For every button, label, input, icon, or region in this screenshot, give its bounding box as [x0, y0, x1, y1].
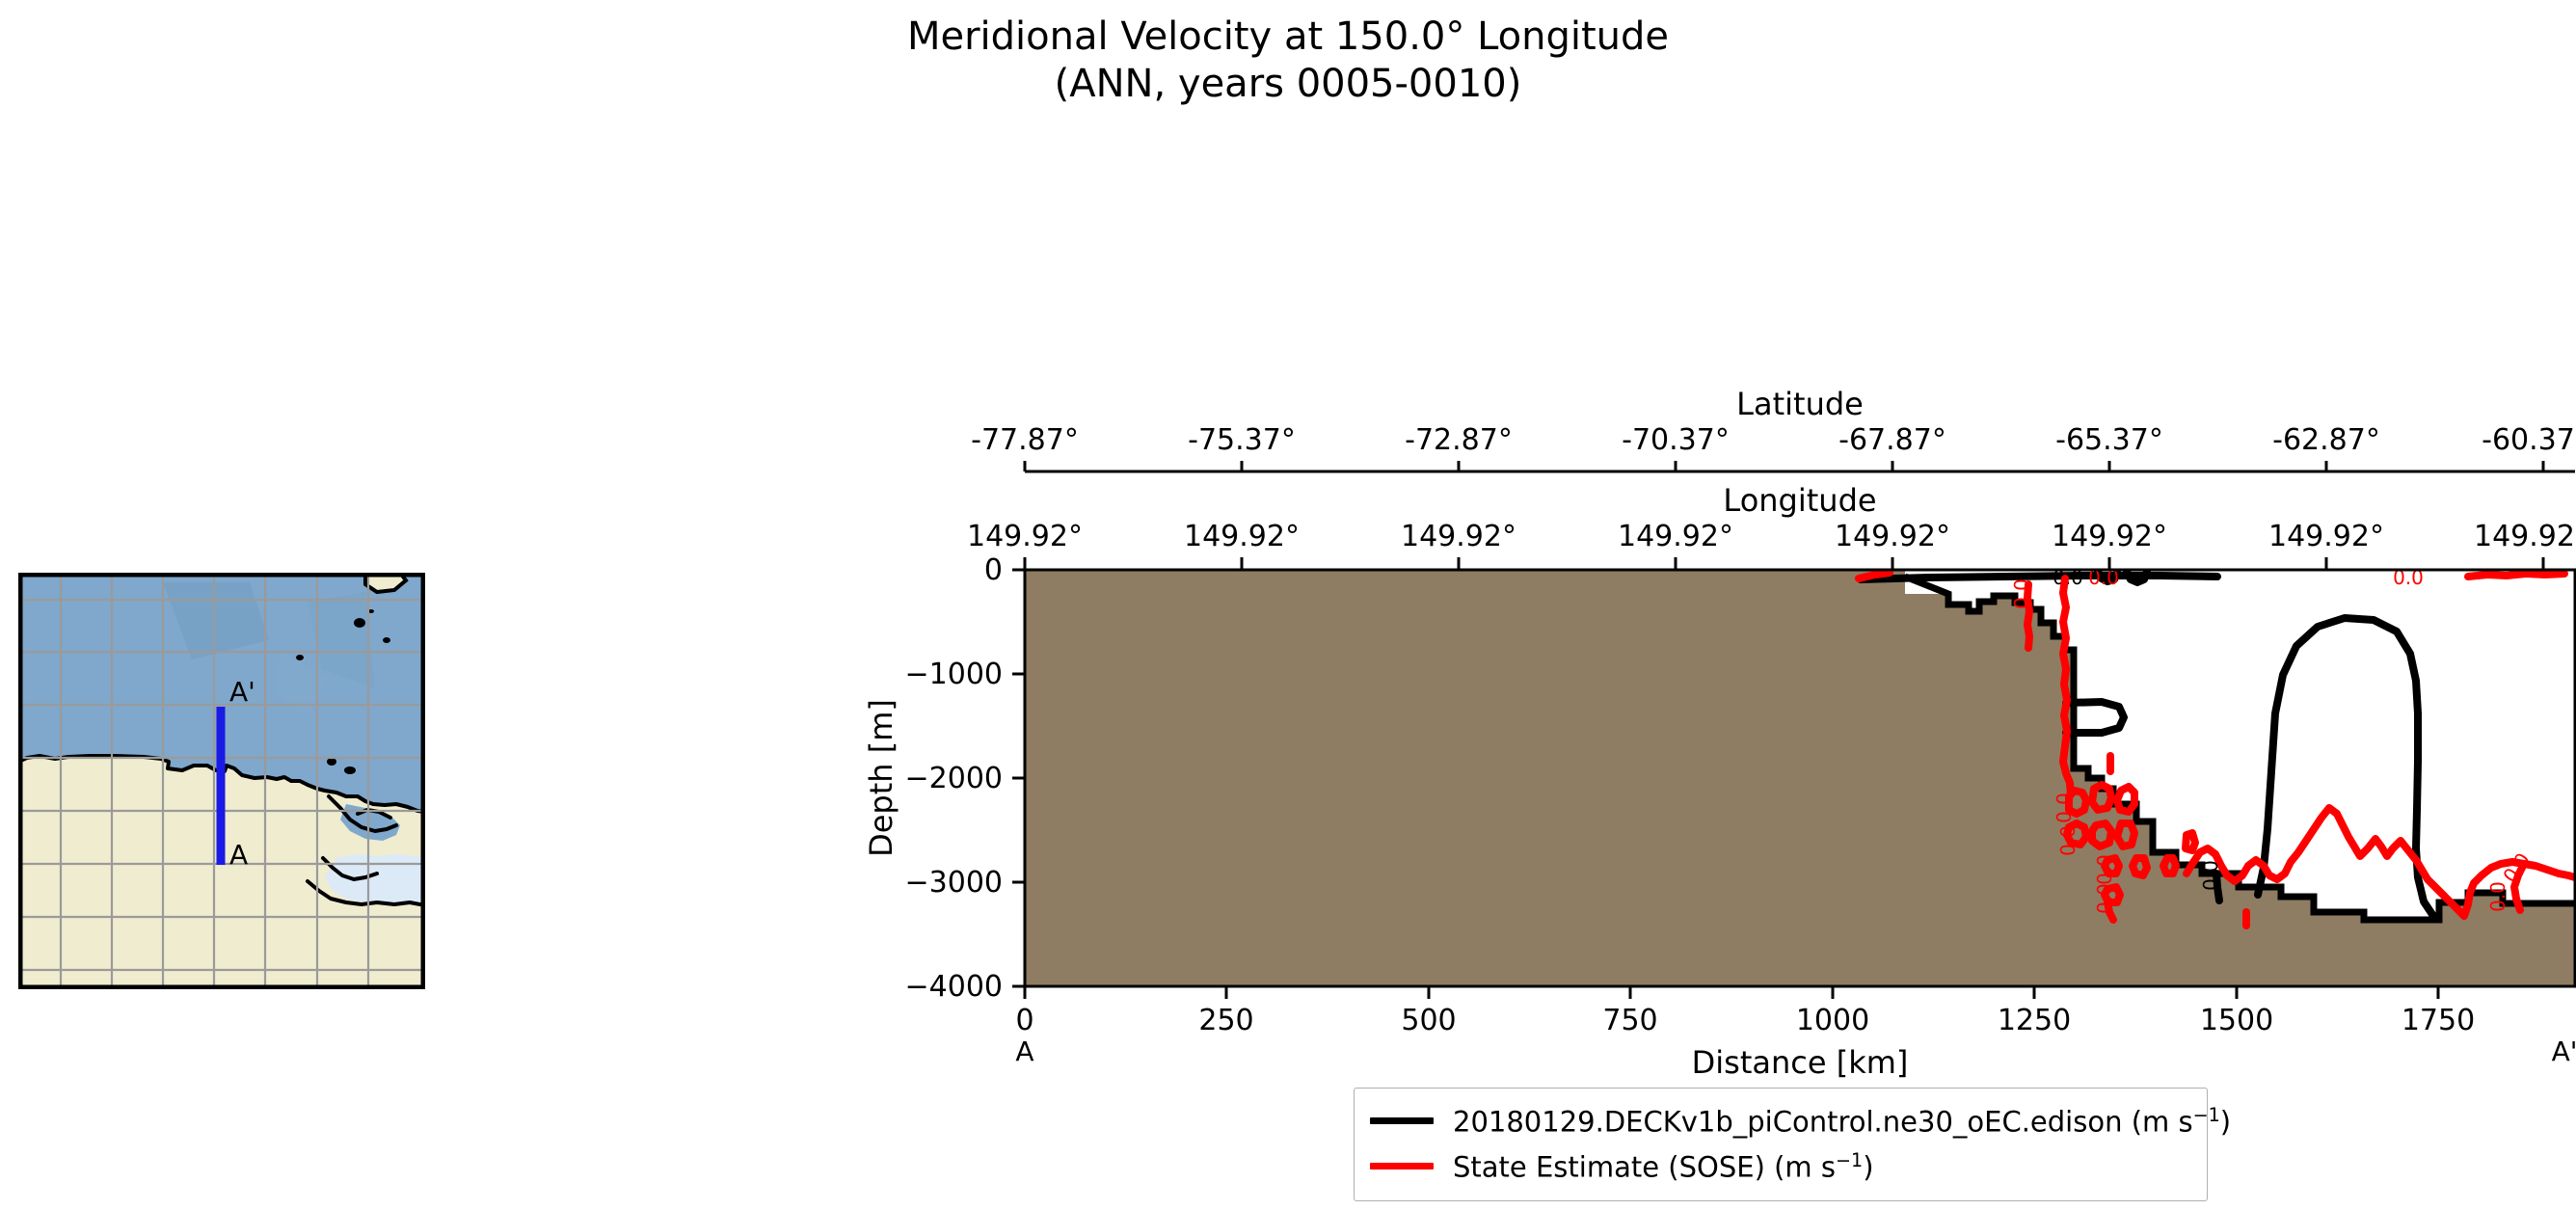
latitude-tick-1: -75.37°: [1188, 423, 1296, 457]
distance-tick-4: 1000: [1796, 1004, 1869, 1037]
distance-tick-6: 1500: [2200, 1004, 2273, 1037]
section-svg: Latitude -77.87° -75.37° -72.87° -70.37°…: [0, 0, 2576, 1210]
sose-contour-label-cell-3: 0.0: [2093, 854, 2116, 885]
depth-tick-2: −2000: [905, 762, 1003, 795]
longitude-tick-5: 149.92°: [2052, 520, 2167, 553]
model-contour-label-deep: 0.0: [2199, 860, 2222, 891]
longitude-ticks: [1025, 557, 2543, 570]
longitude-tick-0: 149.92°: [967, 520, 1083, 553]
legend-model-suffix: ): [2220, 1105, 2231, 1138]
depth-axis: 0 −1000 −2000 −3000 −4000 Depth [m]: [863, 553, 1025, 1004]
longitude-tick-7: 149.92°: [2474, 520, 2576, 553]
latitude-tick-3: -70.37°: [1622, 423, 1730, 457]
latitude-tick-7: -60.37°: [2482, 423, 2576, 457]
legend-entry-model[interactable]: 20180129.DECKv1b_piControl.ne30_oEC.edis…: [1370, 1098, 2191, 1143]
legend-model-prefix: 20180129.DECKv1b_piControl.ne30_oEC.edis…: [1453, 1105, 2193, 1138]
legend-sose-prefix: State Estimate (SOSE) (m s: [1453, 1150, 1836, 1183]
legend-swatch-model: [1370, 1117, 1434, 1124]
longitude-tick-1: 149.92°: [1184, 520, 1300, 553]
latitude-tick-5: -65.37°: [2055, 423, 2163, 457]
legend-label-model: 20180129.DECKv1b_piControl.ne30_oEC.edis…: [1453, 1104, 2231, 1139]
cross-section-plot[interactable]: Latitude -77.87° -75.37° -72.87° -70.37°…: [0, 0, 2576, 1210]
legend-sose-suffix: ): [1863, 1150, 1873, 1183]
distance-tick-0: 0: [1015, 1004, 1033, 1037]
depth-tick-1: −1000: [905, 658, 1003, 691]
longitude-axis-label: Longitude: [1723, 482, 1876, 519]
figure-canvas: Meridional Velocity at 150.0° Longitude …: [0, 0, 2576, 1210]
legend-model-sup: −1: [2193, 1104, 2220, 1126]
latitude-tick-4: -67.87°: [1838, 423, 1946, 457]
distance-tick-1: 250: [1198, 1004, 1253, 1037]
distance-axis-label: Distance [km]: [1692, 1044, 1909, 1081]
distance-axis: 0 250 500 750 1000 1250 1500 1750 A A' D…: [1015, 986, 2576, 1081]
latitude-tick-0: -77.87°: [971, 423, 1079, 457]
latitude-ticks: [1025, 461, 2543, 471]
longitude-tick-4: 149.92°: [1835, 520, 1950, 553]
sose-contour-label-filament-1: 0.0: [2010, 578, 2033, 609]
sose-contour-label-cell-1: 0.0: [2053, 793, 2076, 823]
legend-entry-sose[interactable]: State Estimate (SOSE) (m s−1): [1370, 1143, 2191, 1189]
sose-contour-label-cell-4: 0.0: [2093, 883, 2116, 914]
distance-tick-3: 750: [1602, 1004, 1657, 1037]
depth-tick-3: −3000: [905, 866, 1003, 900]
transect-end-marker: A': [2552, 1035, 2576, 1067]
legend-sose-sup: −1: [1836, 1149, 1863, 1171]
distance-tick-5: 1250: [1998, 1004, 2071, 1037]
distance-tick-2: 500: [1401, 1004, 1456, 1037]
latitude-tick-2: -72.87°: [1405, 423, 1513, 457]
depth-tick-4: −4000: [905, 970, 1003, 1004]
longitude-axis: Longitude 149.92° 149.92° 149.92° 149.92…: [967, 482, 2576, 570]
distance-tick-7: 1750: [2402, 1004, 2475, 1037]
legend-swatch-sose: [1370, 1163, 1434, 1170]
depth-tick-0: 0: [984, 553, 1003, 587]
longitude-tick-6: 149.92°: [2268, 520, 2384, 553]
transect-start-marker: A: [1015, 1035, 1033, 1067]
latitude-axis: Latitude -77.87° -75.37° -72.87° -70.37°…: [971, 386, 2576, 471]
latitude-tick-6: -62.87°: [2272, 423, 2380, 457]
longitude-tick-3: 149.92°: [1618, 520, 1733, 553]
longitude-tick-2: 149.92°: [1401, 520, 1516, 553]
plot-legend[interactable]: 20180129.DECKv1b_piControl.ne30_oEC.edis…: [1354, 1088, 2208, 1201]
model-contour-labels-deep: 0.0: [2199, 860, 2222, 891]
sose-contour-label-cell-2: 0.0: [2056, 825, 2080, 856]
depth-axis-label: Depth [m]: [863, 699, 899, 857]
sose-contour-label-deep-right-2: 0.0: [2486, 881, 2509, 912]
latitude-axis-label: Latitude: [1736, 386, 1864, 422]
legend-label-sose: State Estimate (SOSE) (m s−1): [1453, 1149, 1874, 1184]
